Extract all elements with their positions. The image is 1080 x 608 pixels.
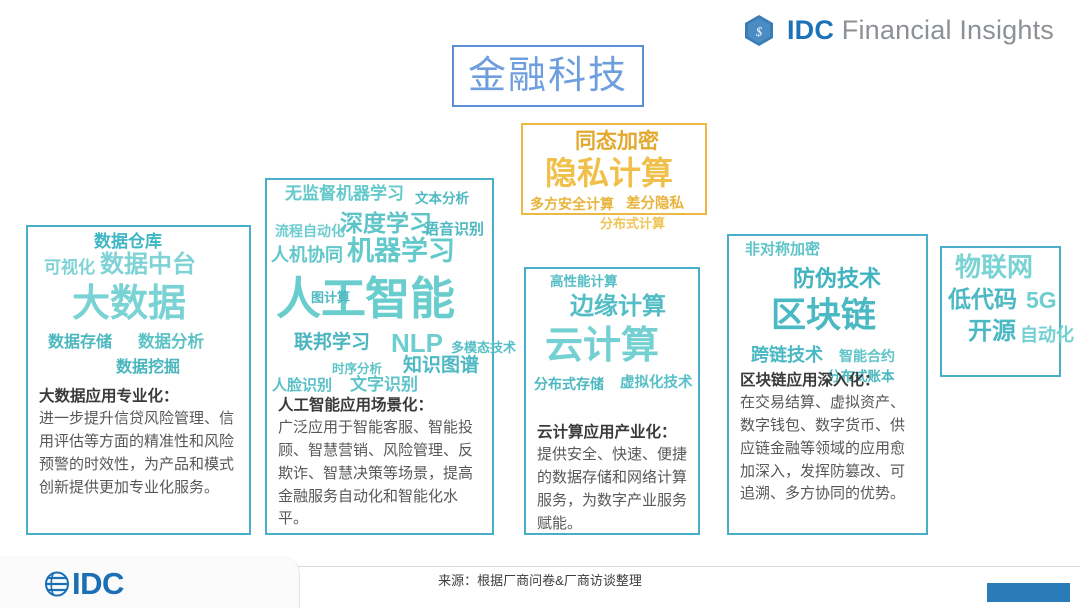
card-paragraph-blockchain: 在交易结算、虚拟资产、数字钱包、数字货币、供应链金融等领域的应用愈加深入，发挥防… — [740, 392, 915, 506]
card-paragraph-big-data: 进一步提升信贷风险管理、信用评估等方面的精准性和风险预警的时效性，为产品和模式创… — [39, 408, 238, 499]
cloud-computing-word: 虚拟化技术 — [620, 376, 693, 391]
cloud-computing-word: 边缘计算 — [570, 295, 666, 319]
brand-header: $ IDC Financial Insights — [744, 14, 1054, 47]
blockchain-word: 非对称加密 — [745, 242, 820, 257]
brand-name-rest: Financial Insights — [834, 15, 1054, 45]
page-title: 金融科技 — [452, 45, 644, 107]
card-blockchain[interactable]: 非对称加密防伪技术区块链跨链技术智能合约分布式账本 区块链应用深入化： 在交易结… — [727, 234, 928, 535]
idc-hexagon-logo-icon: $ — [744, 14, 774, 47]
card-other-tech[interactable]: 物联网低代码5G开源自动化 — [940, 246, 1061, 377]
card-heading-big-data: 大数据应用专业化： — [39, 385, 238, 408]
artificial-intelligence-word: 深度学习 — [340, 212, 432, 235]
blockchain-word: 区块链 — [771, 298, 876, 333]
privacy-word: 差分隐私 — [626, 197, 684, 212]
blockchain-word: 智能合约 — [839, 349, 895, 363]
card-body-blockchain: 区块链应用深入化： 在交易结算、虚拟资产、数字钱包、数字货币、供应链金融等领域的… — [729, 369, 926, 506]
wordcloud-privacy-computing: 同态加密隐私计算多方安全计算差分隐私分布式计算 — [523, 125, 705, 217]
blockchain-word: 跨链技术 — [751, 346, 823, 364]
artificial-intelligence-word: 机器学习 — [347, 238, 455, 265]
brand-name: IDC Financial Insights — [787, 15, 1054, 46]
other-tech-word: 自动化 — [1020, 326, 1074, 344]
wordcloud-big-data: 数据仓库可视化数据中台大数据数据存储数据分析数据挖掘 — [28, 227, 249, 387]
artificial-intelligence-word: 多模态技术 — [451, 341, 516, 354]
card-privacy-computing[interactable]: 同态加密隐私计算多方安全计算差分隐私分布式计算 — [521, 123, 707, 215]
card-body-artificial-intelligence: 人工智能应用场景化： 广泛应用于智能客服、智能投顾、智慧营销、风险管理、反欺诈、… — [267, 394, 492, 531]
card-body-cloud-computing: 云计算应用产业化： 提供安全、快速、便捷的数据存储和网络计算服务，为数字产业服务… — [526, 421, 698, 535]
card-cloud-computing[interactable]: 高性能计算边缘计算云计算分布式存储虚拟化技术 云计算应用产业化： 提供安全、快速… — [524, 267, 700, 535]
other-tech-word: 5G — [1026, 289, 1057, 312]
privacy-word: 多方安全计算 — [530, 197, 614, 211]
card-body-big-data: 大数据应用专业化： 进一步提升信贷风险管理、信用评估等方面的精准性和风险预警的时… — [28, 385, 249, 499]
cloud-computing-word: 云计算 — [545, 327, 659, 365]
source-note: 来源：根据厂商问卷&厂商访谈整理 — [0, 570, 1080, 589]
other-tech-word: 低代码 — [948, 288, 1017, 311]
big-data-word: 数据中台 — [100, 253, 196, 277]
svg-text:$: $ — [756, 24, 763, 39]
big-data-word: 数据仓库 — [94, 233, 162, 250]
blockchain-word: 防伪技术 — [793, 268, 881, 290]
artificial-intelligence-word: 图计算 — [311, 291, 350, 304]
card-big-data[interactable]: 数据仓库可视化数据中台大数据数据存储数据分析数据挖掘 大数据应用专业化： 进一步… — [26, 225, 251, 535]
artificial-intelligence-word: 无监督机器学习 — [285, 185, 404, 202]
other-tech-word: 物联网 — [955, 254, 1033, 280]
artificial-intelligence-word: 文字识别 — [350, 376, 418, 393]
wordcloud-artificial-intelligence: 无监督机器学习文本分析流程自动化深度学习语音识别人机协同机器学习人工图计算智能联… — [267, 180, 492, 402]
wordcloud-other-tech: 物联网低代码5G开源自动化 — [942, 248, 1059, 379]
big-data-word: 数据存储 — [48, 335, 112, 351]
card-paragraph-cloud-computing: 提供安全、快速、便捷的数据存储和网络计算服务，为数字产业服务赋能。 — [537, 444, 687, 535]
artificial-intelligence-word: 流程自动化 — [275, 224, 345, 238]
other-tech-word: 开源 — [968, 320, 1016, 344]
artificial-intelligence-word: 联邦学习 — [294, 333, 370, 352]
slide-canvas: $ IDC Financial Insights 金融科技 同态加密隐私计算多方… — [0, 0, 1080, 608]
big-data-word: 大数据 — [72, 285, 186, 323]
artificial-intelligence-word: 知识图谱 — [403, 356, 479, 375]
cloud-computing-word: 分布式存储 — [534, 377, 604, 391]
big-data-word: 可视化 — [44, 259, 95, 276]
card-heading-artificial-intelligence: 人工智能应用场景化： — [278, 394, 481, 417]
corner-accent-bar — [987, 583, 1070, 602]
big-data-word: 数据挖掘 — [116, 360, 180, 376]
card-heading-cloud-computing: 云计算应用产业化： — [537, 421, 687, 444]
artificial-intelligence-word: 语音识别 — [424, 222, 484, 237]
artificial-intelligence-word: 智能 — [365, 276, 455, 321]
card-artificial-intelligence[interactable]: 无监督机器学习文本分析流程自动化深度学习语音识别人机协同机器学习人工图计算智能联… — [265, 178, 494, 535]
artificial-intelligence-word: 人脸识别 — [272, 378, 332, 393]
brand-name-bold: IDC — [787, 15, 834, 45]
artificial-intelligence-word: 文本分析 — [415, 192, 469, 206]
wordcloud-cloud-computing: 高性能计算边缘计算云计算分布式存储虚拟化技术 — [526, 269, 698, 429]
artificial-intelligence-word: NLP — [391, 330, 443, 356]
artificial-intelligence-word: 时序分析 — [332, 363, 382, 376]
card-heading-blockchain: 区块链应用深入化： — [740, 369, 915, 392]
page-title-label: 金融科技 — [468, 57, 628, 95]
privacy-word: 分布式计算 — [600, 217, 665, 230]
privacy-word: 同态加密 — [575, 131, 659, 152]
big-data-word: 数据分析 — [138, 334, 204, 351]
card-paragraph-artificial-intelligence: 广泛应用于智能客服、智能投顾、智慧营销、风险管理、反欺诈、智慧决策等场景，提高金… — [278, 417, 481, 531]
artificial-intelligence-word: 人机协同 — [271, 246, 343, 264]
privacy-word: 隐私计算 — [545, 157, 673, 189]
cloud-computing-word: 高性能计算 — [550, 275, 618, 289]
